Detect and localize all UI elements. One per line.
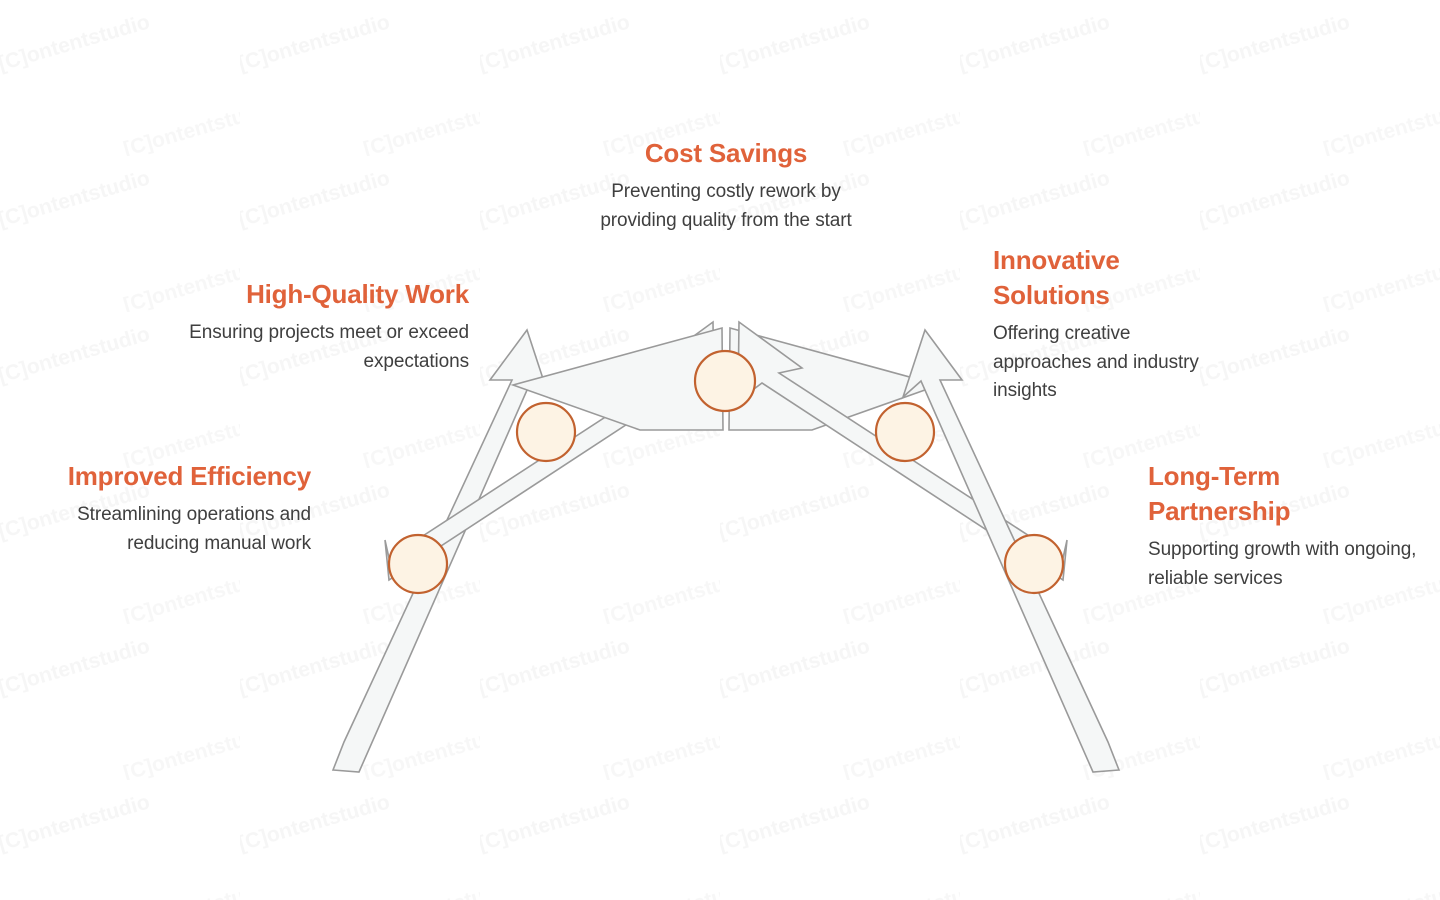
callout-title: Cost Savings bbox=[576, 136, 876, 171]
callout-title: High-Quality Work bbox=[162, 277, 469, 312]
callout-improved-efficiency: Improved Efficiency Streamlining operati… bbox=[26, 459, 311, 559]
callout-high-quality-work: High-Quality Work Ensuring projects meet… bbox=[162, 277, 469, 377]
callout-cost-savings: Cost Savings Preventing costly rework by… bbox=[576, 136, 876, 236]
callout-innovative-solutions: Innovative Solutions Offering creative a… bbox=[993, 243, 1223, 406]
infographic-canvas: [C]ontentstudio [C]ontentstudio bbox=[0, 0, 1440, 900]
callout-description: Preventing costly rework by providing qu… bbox=[576, 178, 876, 236]
callout-long-term-partnership: Long-Term Partnership Supporting growth … bbox=[1148, 459, 1423, 593]
callout-description: Supporting growth with ongoing, reliable… bbox=[1148, 536, 1423, 594]
callout-title: Improved Efficiency bbox=[26, 459, 311, 494]
callout-title: Innovative Solutions bbox=[993, 243, 1223, 313]
callout-layer: Improved Efficiency Streamlining operati… bbox=[0, 0, 1440, 900]
callout-description: Ensuring projects meet or exceed expecta… bbox=[162, 319, 469, 377]
callout-description: Streamlining operations and reducing man… bbox=[26, 501, 311, 559]
callout-title: Long-Term Partnership bbox=[1148, 459, 1423, 529]
callout-description: Offering creative approaches and industr… bbox=[993, 320, 1223, 407]
